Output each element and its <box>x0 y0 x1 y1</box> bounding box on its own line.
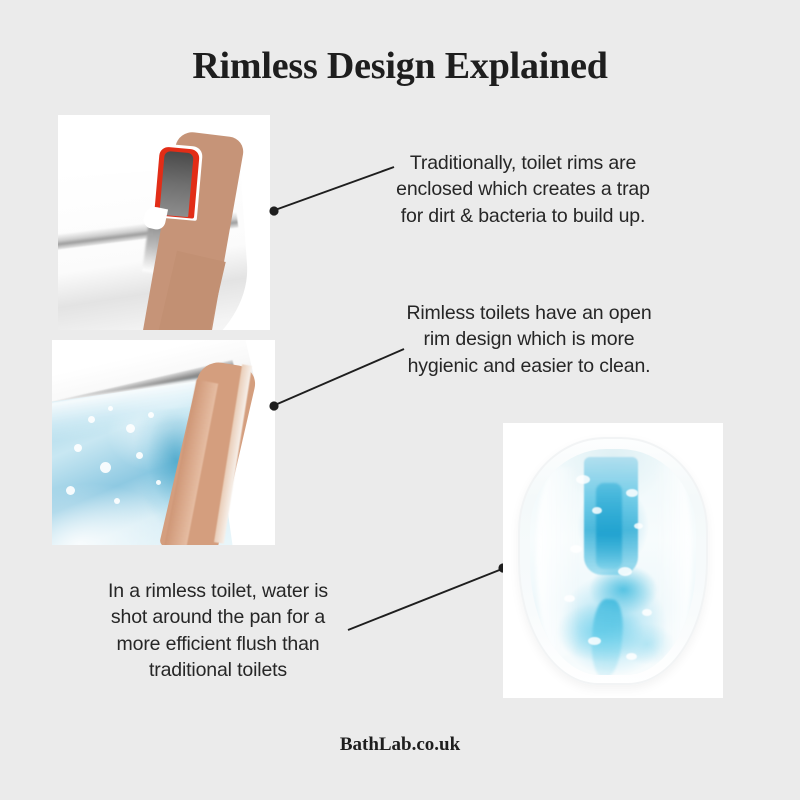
water-bubble <box>66 486 75 495</box>
water-bubble <box>126 424 135 433</box>
rim-cavity-void <box>159 151 193 217</box>
callout-rimless-rim: Rimless toilets have an open rim design … <box>405 300 653 379</box>
water-bubble <box>156 480 161 485</box>
water-foam <box>626 653 637 660</box>
leader-line-1-stroke <box>275 167 394 210</box>
water-foam <box>592 507 602 514</box>
water-bubble <box>108 406 113 411</box>
water-bubble <box>88 416 95 423</box>
leader-line-rimless-flush <box>344 558 509 638</box>
infographic-canvas: Rimless Design Explained Traditionally, … <box>0 0 800 800</box>
photo-rim-open <box>52 340 275 545</box>
water-bubble <box>74 444 82 452</box>
leader-line-3-stroke <box>348 569 502 630</box>
leader-line-2-stroke <box>275 349 404 405</box>
water-foam <box>576 475 590 484</box>
callout-rimless-flush: In a rimless toilet, water is shot aroun… <box>92 578 344 683</box>
water-foam <box>588 637 601 645</box>
photo-bowl-flush <box>503 423 723 698</box>
water-foam <box>626 489 638 497</box>
page-title: Rimless Design Explained <box>0 44 800 88</box>
water-bubble <box>100 462 111 473</box>
footer-brand: BathLab.co.uk <box>0 734 800 756</box>
photo-rim-enclosed <box>58 115 270 330</box>
water-bubble <box>136 452 143 459</box>
water-foam <box>642 609 652 616</box>
rim-open-illustration <box>52 340 275 545</box>
bowl-flush-illustration <box>503 423 723 698</box>
water-jet-core <box>596 483 622 569</box>
water-bubble <box>148 412 154 418</box>
water-bubble <box>114 498 120 504</box>
bowl-inner-surface <box>530 449 696 675</box>
leader-dot-1 <box>269 206 278 215</box>
rim-enclosed-illustration <box>58 115 270 330</box>
water-foam <box>564 595 575 602</box>
bowl-sheen-left <box>536 467 580 657</box>
water-foam <box>634 523 643 529</box>
water-foam <box>618 567 632 576</box>
water-foam <box>570 545 582 553</box>
leader-line-rimless-rim <box>268 336 408 416</box>
callout-traditional-rim: Traditionally, toilet rims are enclosed … <box>392 150 654 229</box>
leader-dot-2 <box>269 401 278 410</box>
leader-line-traditional-rim <box>268 150 398 220</box>
